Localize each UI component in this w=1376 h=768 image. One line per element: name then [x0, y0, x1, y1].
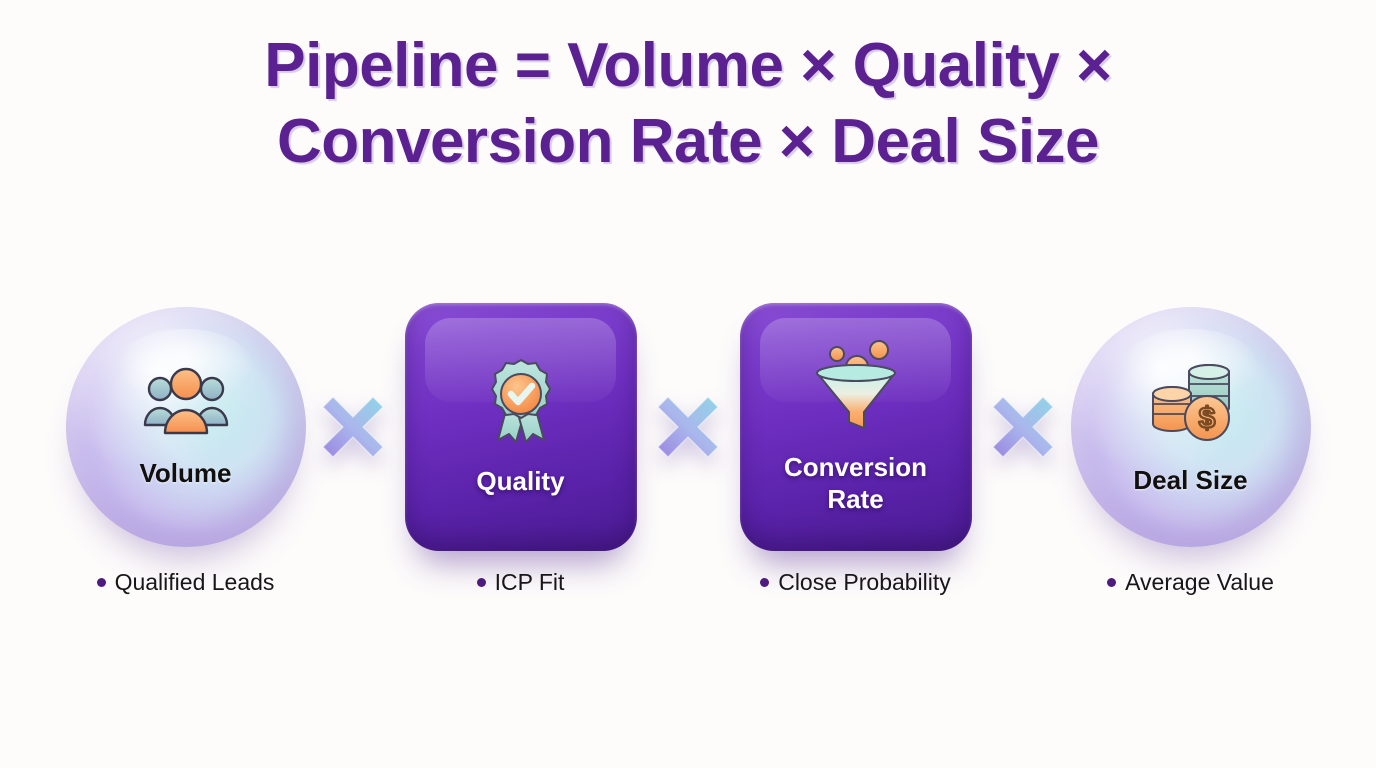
node-label-volume: Volume	[140, 458, 232, 488]
caption-row: Qualified Leads ICP Fit Close Probabilit…	[0, 558, 1376, 606]
caption-quality: ICP Fit	[353, 569, 688, 596]
multiply-icon-3	[989, 393, 1057, 461]
node-volume[interactable]: Volume	[63, 307, 308, 547]
node-label-quality: Quality	[476, 465, 564, 497]
operator-slot-1	[308, 393, 398, 461]
caption-text-conversion-rate: Close Probability	[778, 569, 951, 596]
node-label-conversion-rate: Conversion Rate	[756, 451, 956, 515]
coins-dollar-icon: $	[1145, 360, 1237, 449]
svg-text:$: $	[1198, 402, 1215, 435]
caption-volume: Qualified Leads	[18, 569, 353, 596]
bullet-icon	[760, 578, 769, 587]
quality-card[interactable]: Quality	[405, 303, 637, 551]
conversion-rate-card[interactable]: Conversion Rate	[740, 303, 972, 551]
multiply-icon-1	[319, 393, 387, 461]
operator-slot-3	[978, 393, 1068, 461]
caption-conversion-rate: Close Probability	[688, 569, 1023, 596]
funnel-icon	[809, 340, 903, 437]
node-conversion-rate[interactable]: Conversion Rate	[733, 303, 978, 551]
multiply-icon-2	[654, 393, 722, 461]
deal-size-sphere[interactable]: $ Deal Size	[1071, 307, 1311, 547]
node-quality[interactable]: Quality	[398, 303, 643, 551]
people-group-icon	[143, 367, 229, 442]
title-line-1: Pipeline = Volume × Quality ×	[120, 28, 1256, 104]
quality-badge-icon	[480, 358, 562, 451]
bullet-icon	[1107, 578, 1116, 587]
caption-text-deal-size: Average Value	[1125, 569, 1274, 596]
bullet-icon	[97, 578, 106, 587]
pipeline-formula-row: Volume	[0, 292, 1376, 562]
bullet-icon	[477, 578, 486, 587]
node-deal-size[interactable]: $ Deal Size	[1068, 307, 1313, 547]
caption-text-quality: ICP Fit	[495, 569, 565, 596]
page-title: Pipeline = Volume × Quality × Conversion…	[0, 28, 1376, 180]
title-line-2: Conversion Rate × Deal Size	[120, 104, 1256, 180]
operator-slot-2	[643, 393, 733, 461]
caption-deal-size: Average Value	[1023, 569, 1358, 596]
caption-text-volume: Qualified Leads	[115, 569, 275, 596]
volume-sphere[interactable]: Volume	[66, 307, 306, 547]
node-label-deal-size: Deal Size	[1133, 465, 1247, 495]
